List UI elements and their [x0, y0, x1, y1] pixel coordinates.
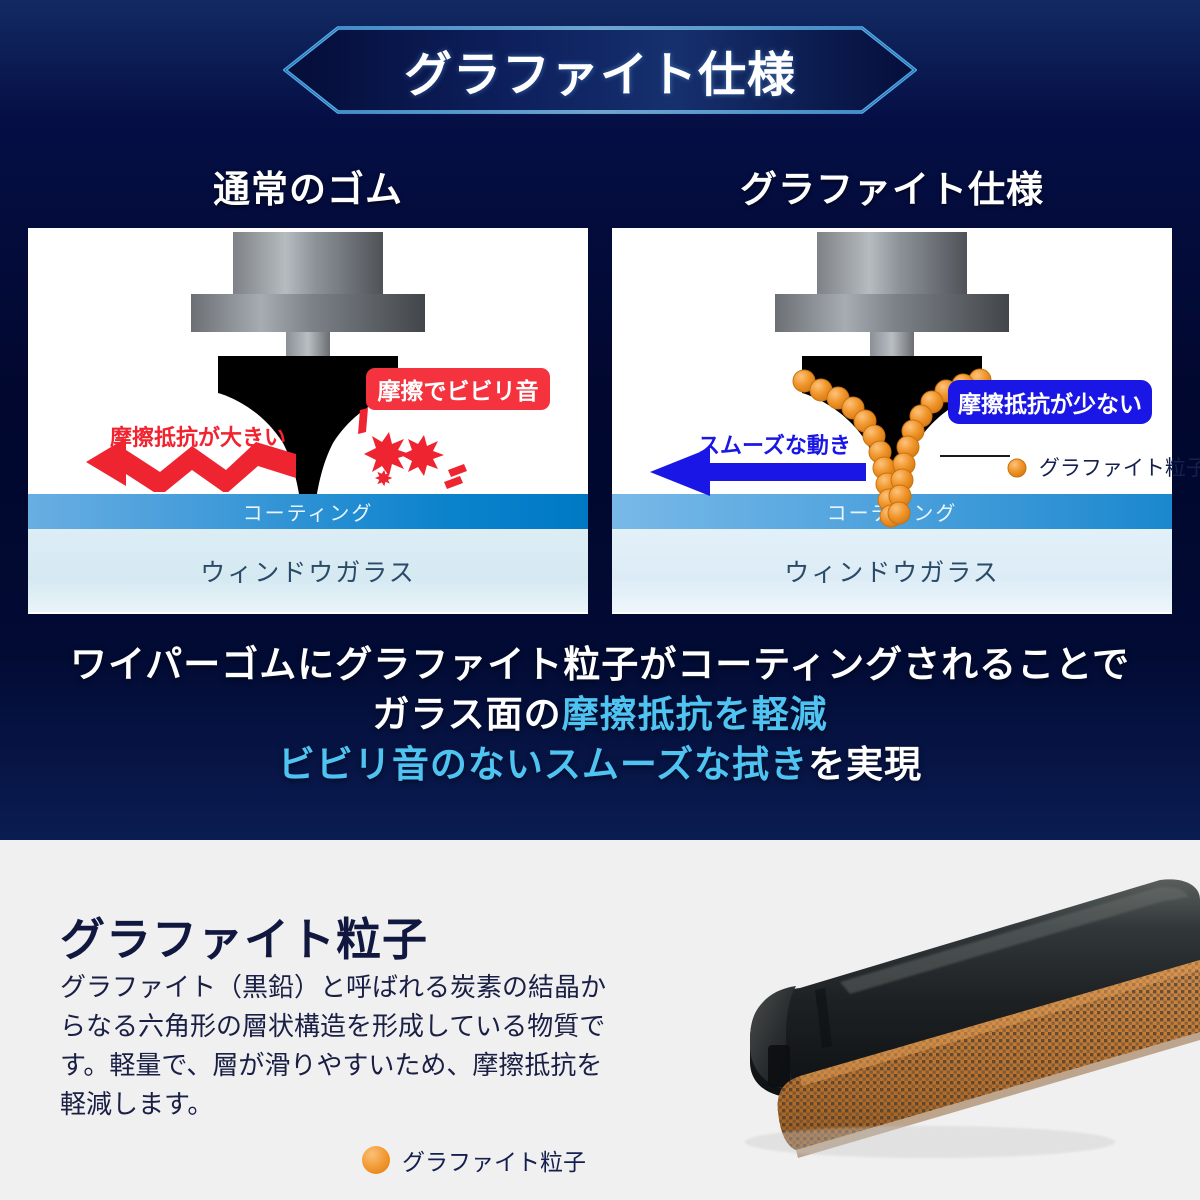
graphite-legend-text: グラファイト粒子: [402, 1143, 586, 1177]
coating-label-left: コーティング: [243, 497, 374, 526]
detail-body: グラファイト（黒鉛）と呼ばれる炭素の結晶からなる六角形の層状構造を形成している物…: [60, 968, 628, 1124]
low-friction-badge: 摩擦抵抗が少ない: [948, 380, 1152, 424]
smooth-motion-arrow-icon: [648, 448, 868, 496]
glass-label-left: ウィンドウガラス: [200, 553, 416, 589]
detail-title: グラファイト粒子: [60, 903, 620, 968]
summary-line-3-highlight-1: ビビリ音のない: [278, 744, 544, 785]
panel-heading-normal: 通常のゴム: [28, 159, 588, 213]
graphite-legend-dot-icon: [362, 1146, 390, 1174]
coating-layer-left: コーティング: [28, 494, 588, 529]
high-friction-arrow-icon: [80, 436, 300, 492]
summary-line-3-highlight-2: スムーズな拭き: [544, 744, 808, 785]
infographic-root: グラファイト仕様 通常のゴム グラファイト仕様: [0, 0, 1200, 1200]
summary-text: ワイパーゴムにグラファイト粒子がコーティングされることで ガラス面の摩擦抵抗を軽…: [0, 640, 1200, 790]
graphite-legend: グラファイト粒子: [362, 1143, 586, 1177]
bottom-section: グラファイト粒子 グラファイト（黒鉛）と呼ばれる炭素の結晶からなる六角形の層状構…: [0, 840, 1200, 1200]
glass-label-right: ウィンドウガラス: [784, 553, 1000, 589]
top-section: グラファイト仕様 通常のゴム グラファイト仕様: [0, 0, 1200, 840]
title-banner: グラファイト仕様: [283, 26, 917, 114]
wiper-product-photo: [600, 850, 1200, 1170]
particle-leader-line-icon: [940, 452, 1010, 460]
summary-line-1: ワイパーゴムにグラファイト粒子がコーティングされることで: [0, 640, 1200, 690]
friction-noise-badge: 摩擦でビビリ音: [366, 368, 550, 410]
panel-heading-graphite: グラファイト仕様: [612, 159, 1172, 213]
particle-legend-inline: グラファイト粒子: [1007, 452, 1200, 482]
summary-line-3: ビビリ音のないスムーズな拭きを実現: [0, 740, 1200, 790]
particle-legend-text: グラファイト粒子: [1039, 457, 1200, 480]
banner-title: グラファイト仕様: [283, 26, 917, 114]
summary-line-2: ガラス面の摩擦抵抗を軽減: [0, 690, 1200, 740]
graphite-dot-icon: [1007, 458, 1027, 478]
summary-line-2-plain: ガラス面の: [372, 694, 561, 735]
glass-layer-right: ウィンドウガラス: [612, 529, 1172, 612]
summary-line-2-highlight: 摩擦抵抗を軽減: [562, 694, 828, 735]
summary-line-3-plain: を実現: [808, 744, 922, 785]
vibration-sparks-icon: [352, 408, 472, 498]
glass-layer-left: ウィンドウガラス: [28, 529, 588, 612]
